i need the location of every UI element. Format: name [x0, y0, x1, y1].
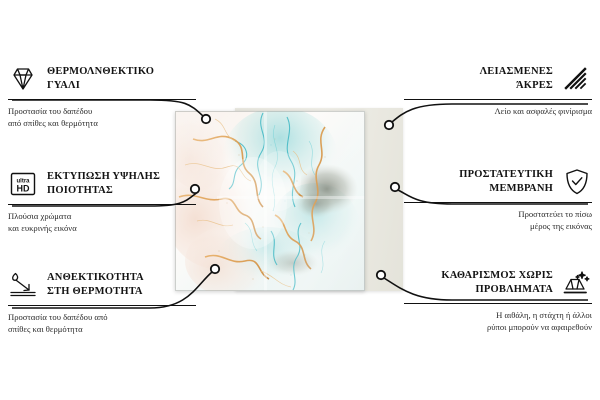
svg-text:HD: HD	[17, 184, 30, 194]
infographic-canvas: ΘΕΡΜΟΛΝΘΕΚΤΙΚΟ ΓΥΑΛΙ Προστασία του δαπέδ…	[0, 0, 600, 400]
product-image	[175, 108, 403, 293]
feature-header: ΛΕΙΑΣΜΕΝΕΣ ΆΚΡΕΣ	[404, 62, 592, 96]
feature-description: Η αιθάλη, η στάχτη ή άλλοι ρύποι μπορούν…	[404, 309, 592, 334]
feature-protective-membrane: ΠΡΟΣΤΑΤΕΥΤΙΚΗ ΜΕΜΒΡΑΝΗ Προστατεύει το πί…	[404, 165, 592, 233]
feature-divider	[8, 305, 196, 306]
ultra-hd-badge-icon: ultra HD	[8, 169, 38, 199]
feature-divider	[8, 99, 196, 100]
feature-header: ΠΡΟΣΤΑΤΕΥΤΙΚΗ ΜΕΜΒΡΑΝΗ	[404, 165, 592, 199]
feature-header: ΘΕΡΜΟΛΝΘΕΚΤΙΚΟ ΓΥΑΛΙ	[8, 62, 196, 96]
feature-description: Πλούσια χρώματα και ευκρινής εικόνα	[8, 210, 196, 235]
feature-easy-cleaning: ΚΑΘΑΡΙΣΜΟΣ ΧΩΡΙΣ ΠΡΟΒΛΗΜΑΤΑ	[404, 266, 592, 334]
feature-high-quality-print: ultra HD ΕΚΤΥΠΩΣΗ ΥΨΗΛΗΣ ΠΟΙΟΤΗΤΑΣ Πλούσ…	[8, 167, 196, 235]
feature-heat-durability: ΑΝΘΕΚΤΙΚΟΤΗΤΑ ΣΤΗ ΘΕΡΜΟΤΗΤΑ Προστασία το…	[8, 268, 196, 336]
polished-edges-icon	[562, 64, 592, 94]
feature-polished-edges: ΛΕΙΑΣΜΕΝΕΣ ΆΚΡΕΣ Λείο και ασφαλές φινίρι…	[404, 62, 592, 117]
feature-header: ultra HD ΕΚΤΥΠΩΣΗ ΥΨΗΛΗΣ ΠΟΙΟΤΗΤΑΣ	[8, 167, 196, 201]
feature-title: ΕΚΤΥΠΩΣΗ ΥΨΗΛΗΣ ΠΟΙΟΤΗΤΑΣ	[47, 170, 160, 198]
feature-header: ΚΑΘΑΡΙΣΜΟΣ ΧΩΡΙΣ ΠΡΟΒΛΗΜΑΤΑ	[404, 266, 592, 300]
heat-resistance-icon	[8, 270, 38, 300]
easy-cleaning-icon	[562, 268, 592, 298]
feature-title: ΚΑΘΑΡΙΣΜΟΣ ΧΩΡΙΣ ΠΡΟΒΛΗΜΑΤΑ	[441, 269, 553, 297]
feature-title: ΑΝΘΕΚΤΙΚΟΤΗΤΑ ΣΤΗ ΘΕΡΜΟΤΗΤΑ	[47, 271, 144, 299]
feature-divider	[404, 202, 592, 203]
feature-header: ΑΝΘΕΚΤΙΚΟΤΗΤΑ ΣΤΗ ΘΕΡΜΟΤΗΤΑ	[8, 268, 196, 302]
feature-title: ΘΕΡΜΟΛΝΘΕΚΤΙΚΟ ΓΥΑΛΙ	[47, 65, 154, 93]
feature-title: ΠΡΟΣΤΑΤΕΥΤΙΚΗ ΜΕΜΒΡΑΝΗ	[459, 168, 553, 196]
shield-check-icon	[562, 167, 592, 197]
marble-ink-artwork	[175, 111, 365, 291]
feature-description: Προστατεύει το πίσω μέρος της εικόνας	[404, 208, 592, 233]
glass-panel	[175, 111, 365, 291]
diamond-icon	[8, 64, 38, 94]
feature-title: ΛΕΙΑΣΜΕΝΕΣ ΆΚΡΕΣ	[480, 65, 553, 93]
feature-divider	[404, 303, 592, 304]
feature-description: Προστασία του δαπέδου από σπίθες και θερ…	[8, 311, 196, 336]
feature-divider	[404, 99, 592, 100]
feature-divider	[8, 204, 196, 205]
feature-heat-resistant-glass: ΘΕΡΜΟΛΝΘΕΚΤΙΚΟ ΓΥΑΛΙ Προστασία του δαπέδ…	[8, 62, 196, 130]
feature-description: Προστασία του δαπέδου από σπίθες και θερ…	[8, 105, 196, 130]
feature-description: Λείο και ασφαλές φινίρισμα	[404, 105, 592, 117]
